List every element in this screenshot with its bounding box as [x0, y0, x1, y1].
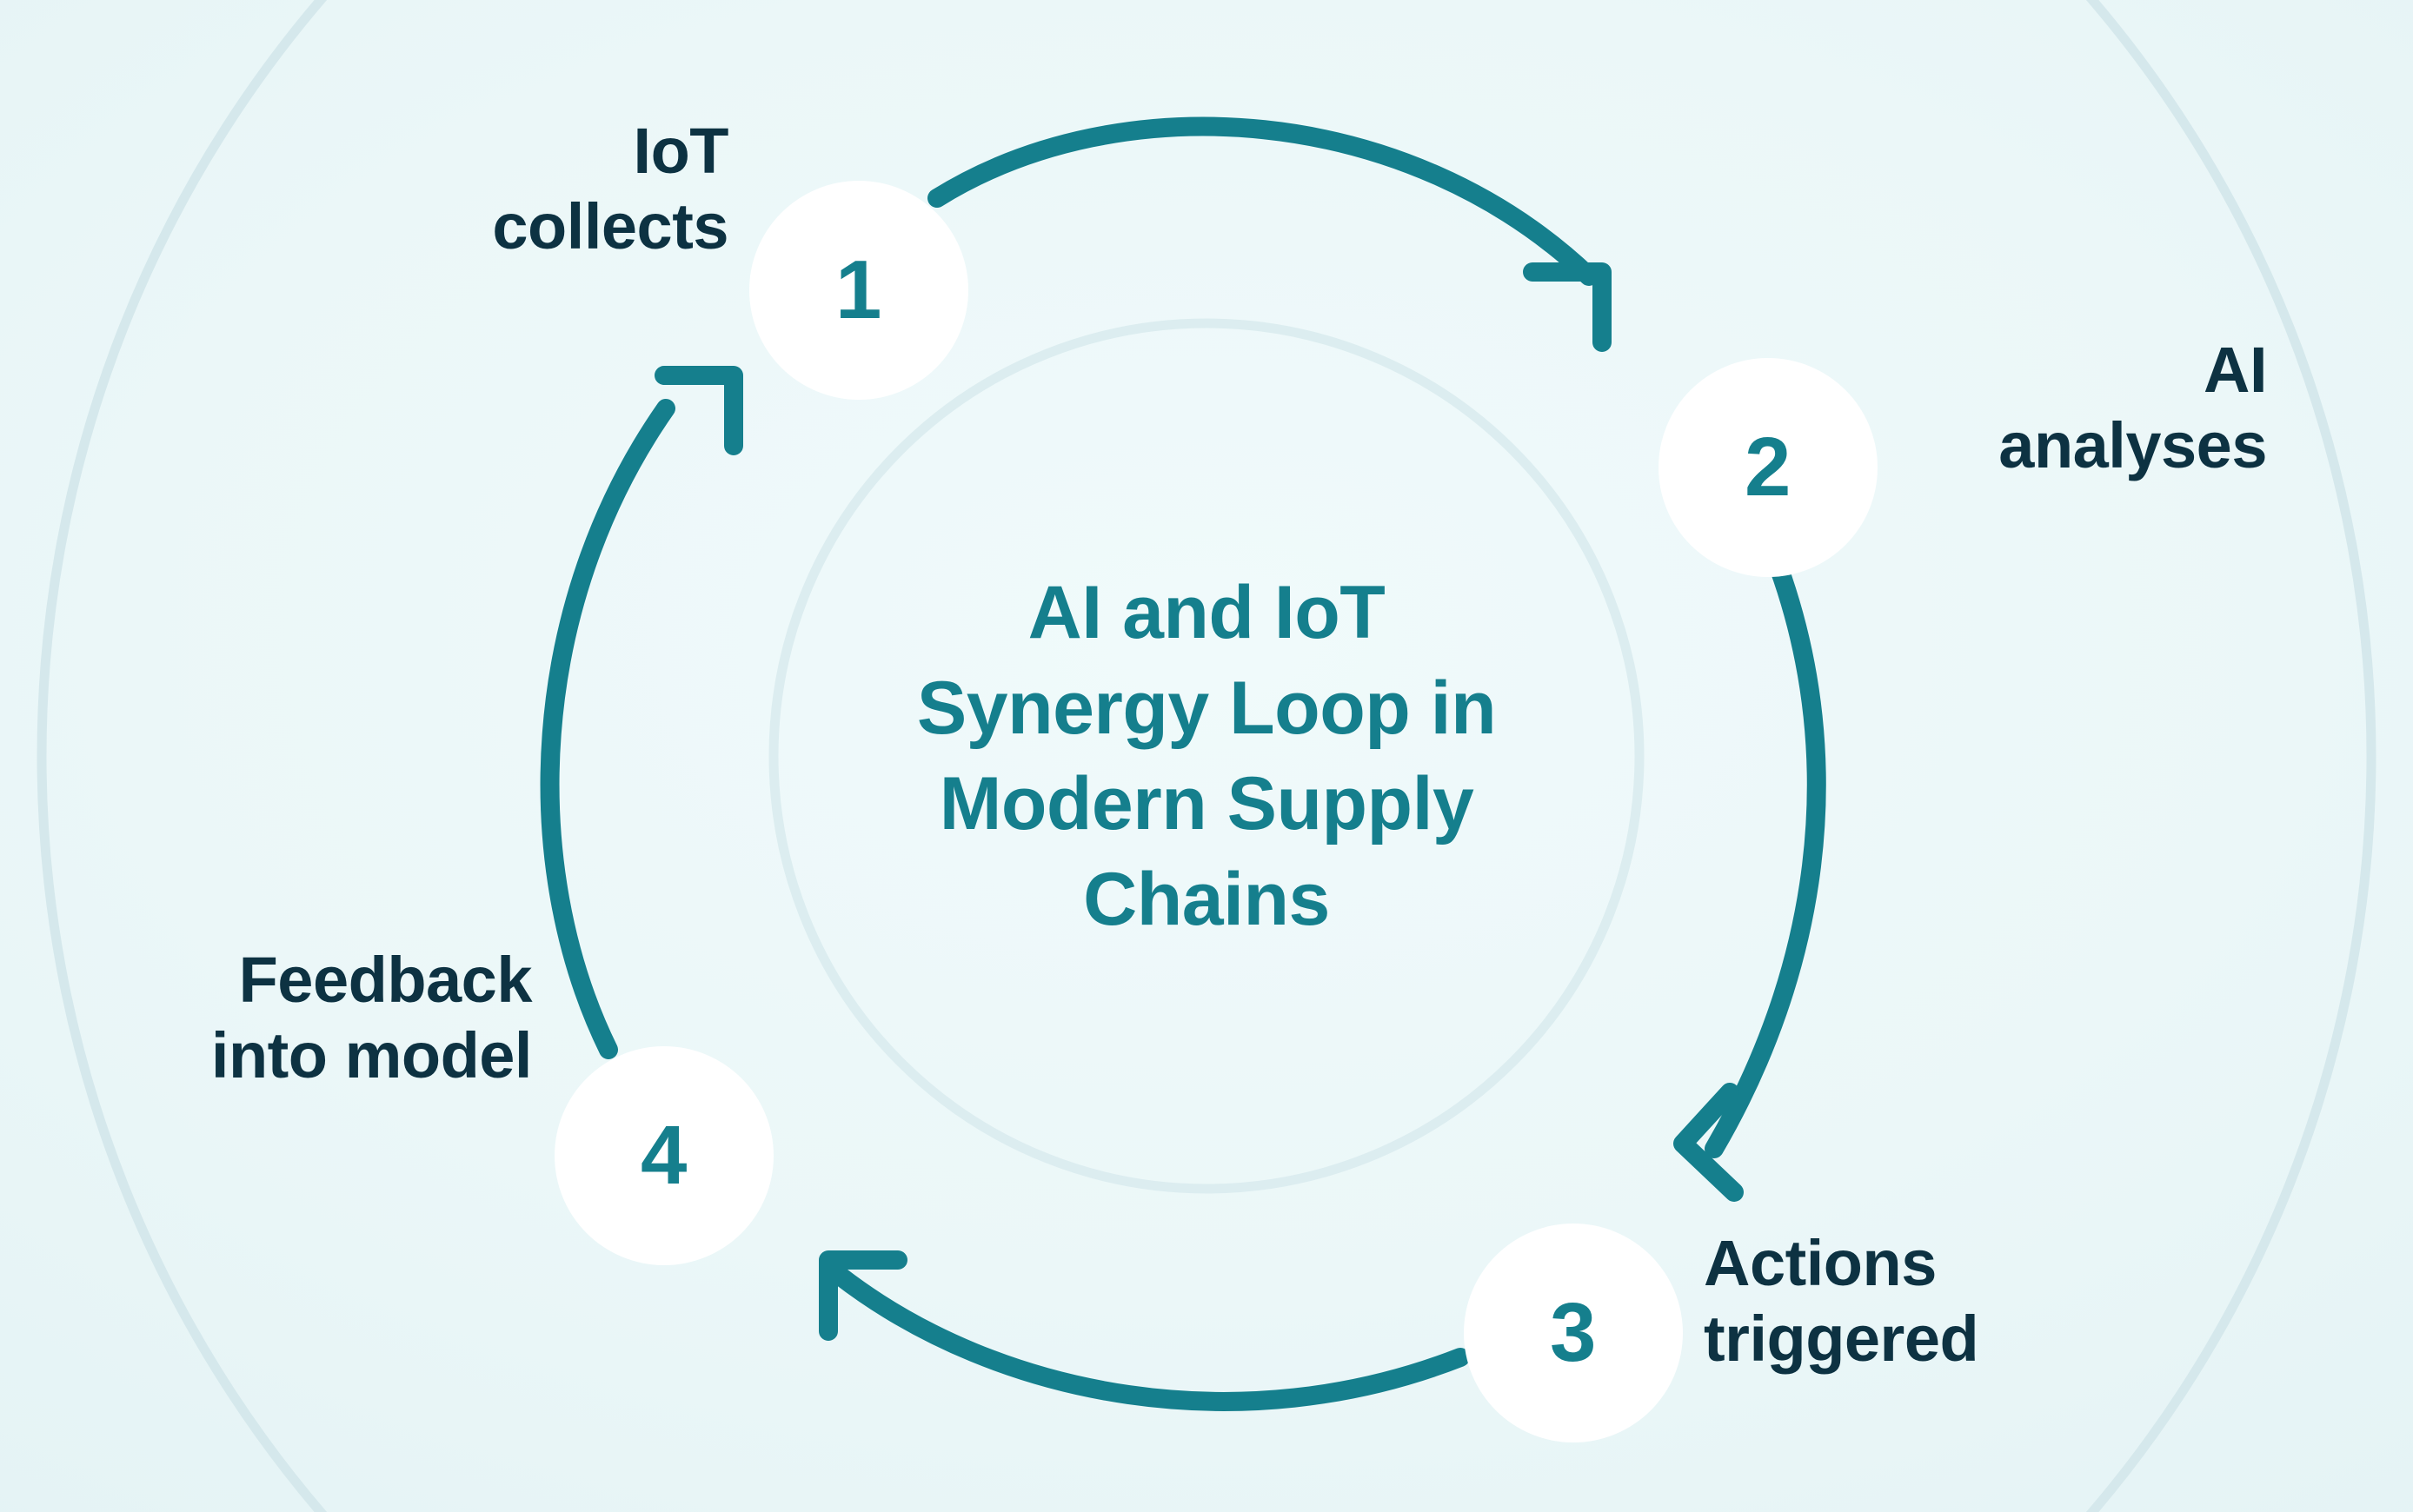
step-label-2: AI analyses — [1919, 332, 2267, 484]
step-label-3: Actions triggered — [1704, 1225, 2121, 1377]
step-number-2: 2 — [1745, 426, 1791, 509]
step-number-1: 1 — [835, 249, 882, 332]
step-label-4: Feedback into model — [113, 942, 532, 1094]
arrow-3-to-4 — [828, 1260, 1460, 1402]
step-number-3: 3 — [1550, 1291, 1597, 1375]
arrow-2-to-3 — [1683, 567, 1817, 1192]
step-label-1: IoT collects — [376, 113, 728, 265]
step-node-4[interactable]: 4 — [555, 1046, 774, 1265]
step-node-3[interactable]: 3 — [1464, 1224, 1683, 1442]
step-node-1[interactable]: 1 — [749, 181, 968, 400]
center-title: AI and IoT Synergy Loop in Modern Supply… — [772, 565, 1641, 947]
step-node-2[interactable]: 2 — [1659, 358, 1878, 577]
step-number-4: 4 — [641, 1114, 688, 1197]
diagram-canvas: AI and IoT Synergy Loop in Modern Supply… — [0, 0, 2413, 1512]
arrow-1-to-2 — [937, 127, 1602, 342]
arrow-4-to-1 — [550, 375, 734, 1050]
